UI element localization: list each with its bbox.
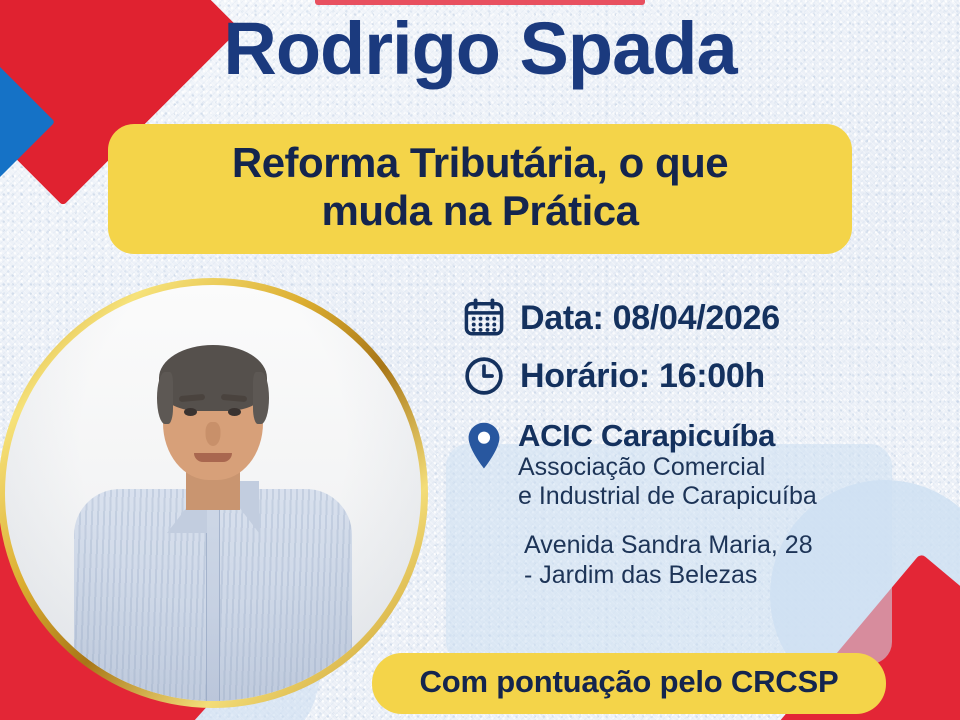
venue-subtitle-2: e Industrial de Carapicuíba [518, 482, 817, 512]
venue-name: ACIC Carapicuíba [518, 420, 817, 453]
speaker-name: Rodrigo Spada [0, 12, 960, 86]
venue-row: ACIC Carapicuíba Associação Comercial e … [462, 420, 952, 512]
venue-subtitle-1: Associação Comercial [518, 453, 817, 483]
cta-banner: Com pontuação pelo CRCSP [372, 653, 886, 714]
portrait-vignette [5, 285, 421, 701]
calendar-icon [462, 296, 506, 340]
decorative-red-top-line [315, 0, 645, 5]
speaker-photo-frame [0, 278, 428, 708]
address-block: Avenida Sandra Maria, 28 - Jardim das Be… [524, 530, 952, 590]
clock-icon [462, 354, 506, 398]
map-pin-icon [462, 420, 506, 472]
topic-banner: Reforma Tributária, o que muda na Prátic… [108, 124, 852, 254]
speaker-photo [5, 285, 421, 701]
event-poster: Rodrigo Spada Reforma Tributária, o que … [0, 0, 960, 720]
time-text: Horário: 16:00h [520, 357, 765, 396]
event-details: Data: 08/04/2026 Horário: 16:00h ACIC Ca… [462, 296, 952, 590]
date-row: Data: 08/04/2026 [462, 296, 952, 340]
topic-line-1: Reforma Tributária, o que [134, 139, 826, 187]
date-text: Data: 08/04/2026 [520, 299, 780, 338]
address-line-1: Avenida Sandra Maria, 28 [524, 530, 952, 560]
time-row: Horário: 16:00h [462, 354, 952, 398]
address-line-2: - Jardim das Belezas [524, 560, 952, 590]
venue-text-block: ACIC Carapicuíba Associação Comercial e … [518, 420, 817, 512]
cta-text: Com pontuação pelo CRCSP [420, 664, 839, 699]
topic-line-2: muda na Prática [134, 187, 826, 235]
